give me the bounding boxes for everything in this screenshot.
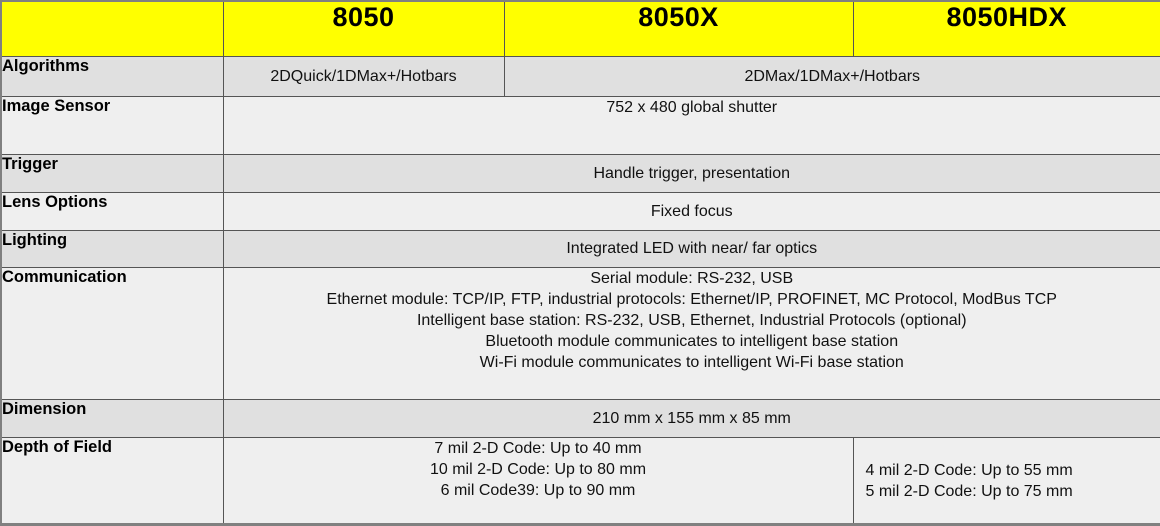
row-label-trigger: Trigger xyxy=(1,154,223,192)
column-header-8050: 8050 xyxy=(223,1,504,56)
cell-depth-of-field-8050hdx: 4 mil 2-D Code: Up to 55 mm 5 mil 2-D Co… xyxy=(853,437,1160,524)
table-row-dimension: Dimension 210 mm x 155 mm x 85 mm xyxy=(1,399,1160,437)
table-row-lens-options: Lens Options Fixed focus xyxy=(1,192,1160,230)
product-comparison-table: 8050 8050X 8050HDX Algorithms 2DQuick/1D… xyxy=(0,0,1160,526)
cell-lens-options-all: Fixed focus xyxy=(223,192,1160,230)
table-header-row: 8050 8050X 8050HDX xyxy=(1,1,1160,56)
cell-lighting-all: Integrated LED with near/ far optics xyxy=(223,230,1160,267)
table-row-depth-of-field: Depth of Field 7 mil 2-D Code: Up to 40 … xyxy=(1,437,1160,524)
communication-line-base-station: Intelligent base station: RS-232, USB, E… xyxy=(224,310,1160,331)
cell-image-sensor-all: 752 x 480 global shutter xyxy=(223,96,1160,154)
cell-communication-all: Serial module: RS-232, USB Ethernet modu… xyxy=(223,267,1160,399)
communication-line-wifi: Wi-Fi module communicates to intelligent… xyxy=(224,352,1160,373)
header-spec-column-blank xyxy=(1,1,223,56)
row-label-lighting: Lighting xyxy=(1,230,223,267)
dof-line-6mil: 6 mil Code39: Up to 90 mm xyxy=(224,480,853,501)
dof-line-7mil: 7 mil 2-D Code: Up to 40 mm xyxy=(224,438,853,459)
table-row-trigger: Trigger Handle trigger, presentation xyxy=(1,154,1160,192)
table-row-communication: Communication Serial module: RS-232, USB… xyxy=(1,267,1160,399)
row-label-algorithms: Algorithms xyxy=(1,56,223,96)
row-label-dimension: Dimension xyxy=(1,399,223,437)
cell-dimension-all: 210 mm x 155 mm x 85 mm xyxy=(223,399,1160,437)
communication-line-ethernet: Ethernet module: TCP/IP, FTP, industrial… xyxy=(224,289,1160,310)
cell-algorithms-8050x-8050hdx: 2DMax/1DMax+/Hotbars xyxy=(504,56,1160,96)
row-label-image-sensor: Image Sensor xyxy=(1,96,223,154)
communication-line-serial: Serial module: RS-232, USB xyxy=(224,268,1160,289)
cell-depth-of-field-8050-8050x: 7 mil 2-D Code: Up to 40 mm 10 mil 2-D C… xyxy=(223,437,853,524)
row-label-communication: Communication xyxy=(1,267,223,399)
table-row-lighting: Lighting Integrated LED with near/ far o… xyxy=(1,230,1160,267)
table-row-image-sensor: Image Sensor 752 x 480 global shutter xyxy=(1,96,1160,154)
column-header-8050hdx: 8050HDX xyxy=(853,1,1160,56)
communication-line-bluetooth: Bluetooth module communicates to intelli… xyxy=(224,331,1160,352)
dof-hdx-line-5mil: 5 mil 2-D Code: Up to 75 mm xyxy=(866,481,1160,502)
table-row-algorithms: Algorithms 2DQuick/1DMax+/Hotbars 2DMax/… xyxy=(1,56,1160,96)
row-label-depth-of-field: Depth of Field xyxy=(1,437,223,524)
dof-hdx-line-4mil: 4 mil 2-D Code: Up to 55 mm xyxy=(866,460,1160,481)
cell-trigger-all: Handle trigger, presentation xyxy=(223,154,1160,192)
column-header-8050x: 8050X xyxy=(504,1,853,56)
cell-algorithms-8050: 2DQuick/1DMax+/Hotbars xyxy=(223,56,504,96)
row-label-lens-options: Lens Options xyxy=(1,192,223,230)
dof-line-10mil: 10 mil 2-D Code: Up to 80 mm xyxy=(224,459,853,480)
